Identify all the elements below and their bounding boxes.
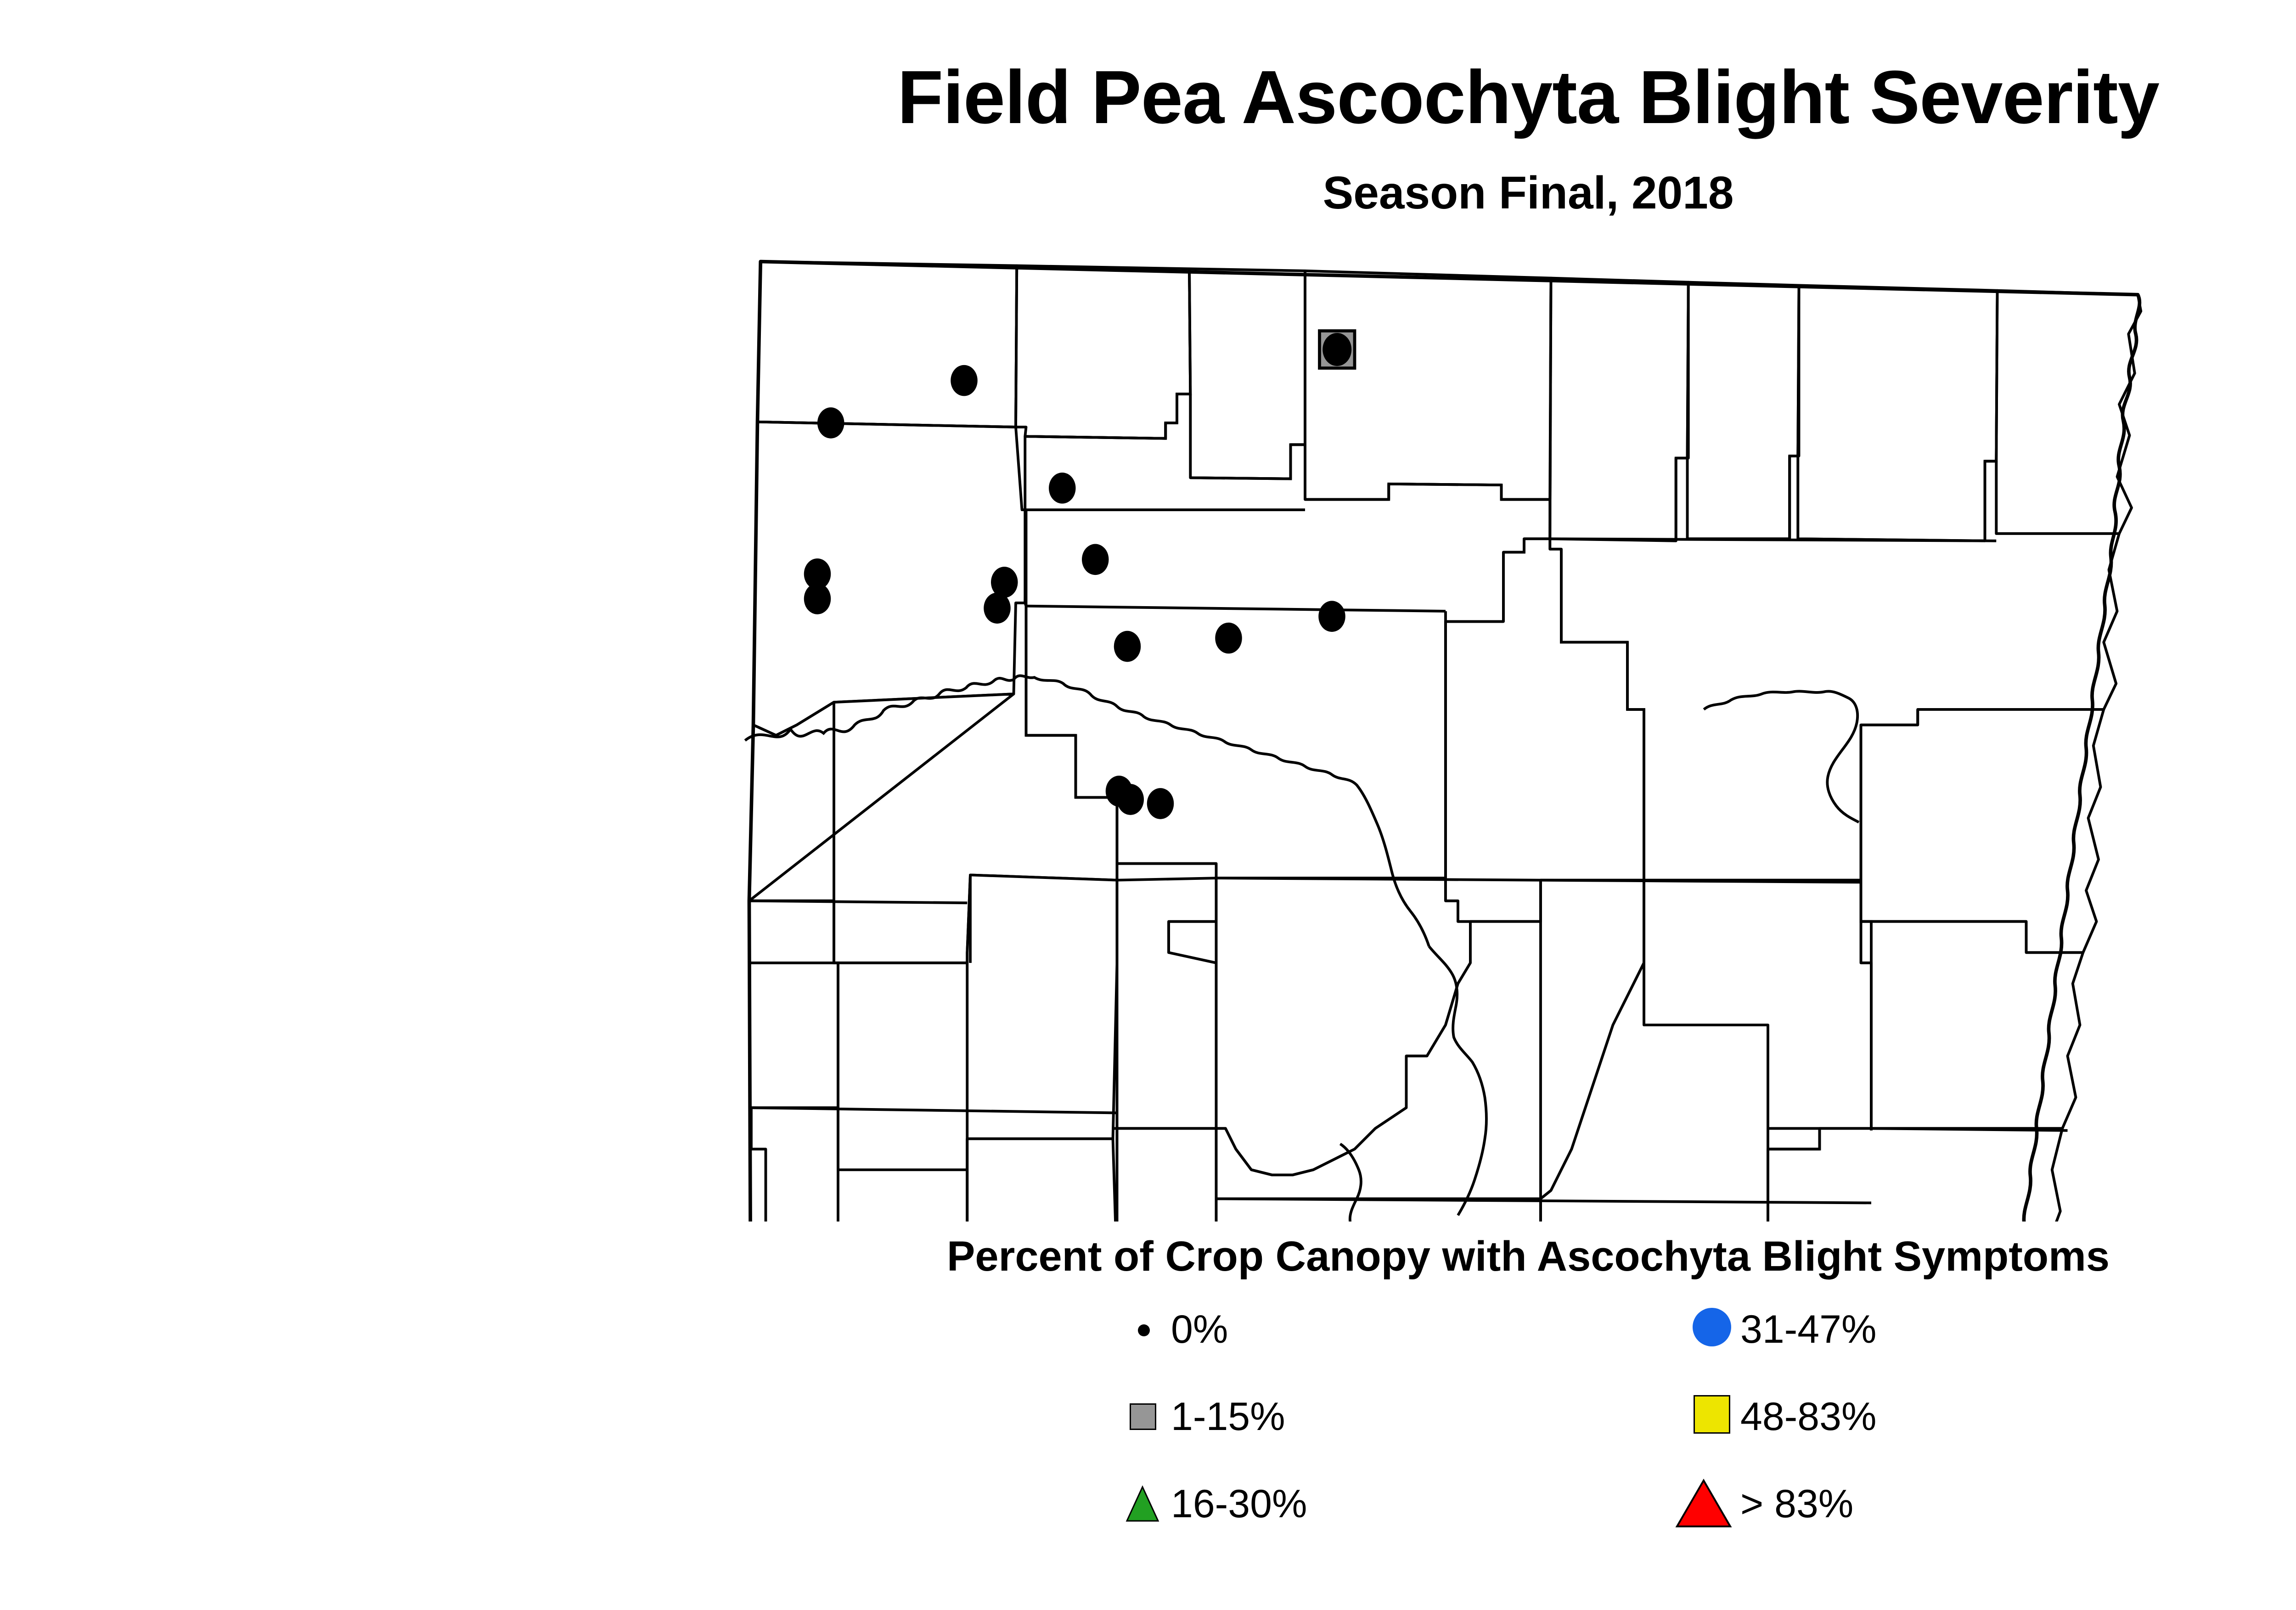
marker-dot-0 (1049, 473, 1076, 504)
marker-dot-0 (951, 365, 978, 396)
legend-caption: Percent of Crop Canopy with Ascochyta Bl… (0, 1235, 2296, 1278)
legend-square-gray-icon (1102, 1391, 1171, 1442)
legend-label: 1-15% (1171, 1397, 1285, 1436)
legend-label: 0% (1171, 1310, 1228, 1349)
marker-dot-0 (817, 407, 844, 439)
legend-label: > 83% (1740, 1484, 1853, 1524)
legend-label: 48-83% (1740, 1397, 1876, 1436)
legend-item-16-30-percent[interactable]: 16-30% (1102, 1479, 1307, 1529)
legend-label: 16-30% (1171, 1484, 1307, 1524)
marker-dot-0 (1318, 601, 1345, 632)
legend-triangle-green-icon (1102, 1479, 1171, 1529)
legend-circle-blue-icon (1671, 1304, 1740, 1355)
marker-dot-0 (1322, 333, 1351, 366)
marker-dot-0 (1215, 623, 1242, 654)
map-figure: Field Pea Ascochyta Blight Severity Seas… (0, 0, 2296, 1610)
legend-item-31-47-percent[interactable]: 31-47% (1671, 1304, 1876, 1355)
legend: 0% 1-15% 16-30% 31-47% (1102, 1304, 2158, 1561)
legend-square-yellow-icon (1671, 1391, 1740, 1442)
marker-dot-0 (1082, 544, 1109, 575)
legend-label: 31-47% (1740, 1310, 1876, 1349)
legend-circle-black-icon (1102, 1304, 1171, 1355)
marker-dot-0 (984, 592, 1011, 624)
north-dakota-county-map[interactable] (735, 239, 2296, 1222)
marker-dot-0 (1147, 788, 1174, 819)
legend-item-1-15-percent[interactable]: 1-15% (1102, 1391, 1285, 1442)
marker-dot-0 (1117, 784, 1144, 815)
map-svg (735, 239, 2296, 1222)
legend-item-48-83-percent[interactable]: 48-83% (1671, 1391, 1876, 1442)
marker-dot-0 (1114, 631, 1141, 662)
legend-item-0-percent[interactable]: 0% (1102, 1304, 1228, 1355)
legend-triangle-red-icon (1671, 1479, 1740, 1529)
legend-item-over-83-percent[interactable]: > 83% (1671, 1479, 1853, 1529)
page-title: Field Pea Ascochyta Blight Severity (0, 60, 2296, 135)
marker-dot-0 (804, 583, 831, 614)
page-subtitle: Season Final, 2018 (0, 170, 2296, 216)
